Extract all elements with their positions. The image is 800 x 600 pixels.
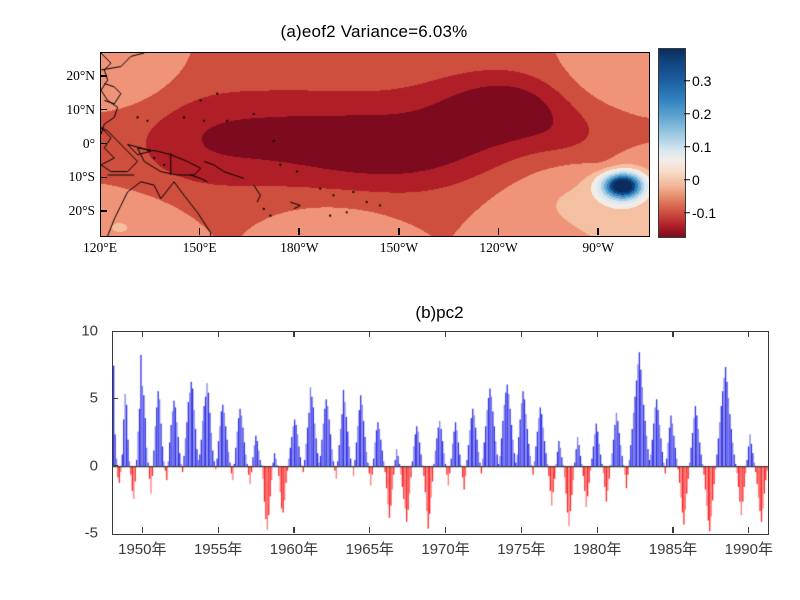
pc-bar-canvas [113,332,768,534]
pc-xtick-label: 1975年 [497,538,545,559]
pc-ytick-label: -5 [85,525,98,542]
map-ytick-mark [100,143,107,145]
pc-xtick-mark [218,527,219,533]
pc-xtick-mark [293,331,294,337]
pc-y-axis-labels: 1050-5 [40,331,106,533]
colorbar-tick-label: 0.1 [692,139,711,155]
pc-xtick-label: 1960年 [270,538,318,559]
eof-map-plot-area [100,52,650,237]
map-xtick-label: 180°W [280,240,318,256]
pc-timeseries-panel: (b)pc2 1050-5 1950年1955年1960年1965年1970年1… [0,280,800,600]
map-x-axis-labels: 120°E150°E180°W150°W120°W90°W [100,240,648,262]
figure-root: (a)eof2 Variance=6.03% 20°N10°N0°10°S20°… [0,0,800,600]
pc-xtick-mark [445,331,446,337]
map-xtick-label: 120°E [83,240,117,256]
map-y-axis-labels: 20°N10°N0°10°S20°S [0,52,95,235]
map-xtick-label: 150°E [183,240,217,256]
pc-xtick-label: 1970年 [421,538,469,559]
pc-xtick-label: 1965年 [346,538,394,559]
colorbar-tick-mark [684,80,690,82]
map-xtick-mark [498,228,500,235]
pc-xtick-mark [445,527,446,533]
pc-ytick-mark [112,398,118,399]
pc-xtick-label: 1980年 [573,538,621,559]
colorbar-tick-mark [684,113,690,115]
pc-xtick-mark [597,331,598,337]
pc-xtick-label: 1950年 [118,538,166,559]
map-xtick-label: 90°W [582,240,614,256]
eof-contour-canvas [101,53,649,236]
pc-panel-title: (b)pc2 [112,303,767,323]
pc-xtick-mark [142,527,143,533]
map-ytick-label: 10°N [66,102,95,118]
pc-xtick-label: 1990年 [725,538,773,559]
pc-xtick-label: 1955年 [194,538,242,559]
pc-x-axis-labels: 1950年1955年1960年1965年1970年1975年1980年1985年… [112,538,767,562]
colorbar-tick-mark [684,146,690,148]
colorbar-tick-label: -0.1 [692,205,716,221]
pc-xtick-mark [218,331,219,337]
pc-xtick-mark [293,527,294,533]
pc-xtick-mark [369,331,370,337]
map-ytick-mark [100,109,107,111]
pc-ytick-label: 0 [90,457,98,474]
pc-xtick-mark [672,527,673,533]
map-ytick-mark [100,177,107,179]
pc-xtick-mark [672,331,673,337]
colorbar-tick-label: 0.3 [692,73,711,89]
pc-plot-area [112,331,769,535]
colorbar-tick-mark [684,179,690,181]
colorbar [658,48,686,238]
map-xtick-mark [199,228,201,235]
map-xtick-mark [398,228,400,235]
map-ytick-label: 0° [83,136,95,152]
pc-xtick-mark [521,331,522,337]
pc-ytick-mark [112,465,118,466]
map-ytick-mark [100,75,107,77]
map-xtick-mark [298,228,300,235]
map-ytick-label: 10°S [69,169,95,185]
pc-xtick-mark [748,527,749,533]
map-ytick-label: 20°S [69,203,95,219]
map-ytick-mark [100,210,107,212]
map-xtick-mark [597,228,599,235]
colorbar-tick-label: 0.2 [692,106,711,122]
map-xtick-label: 120°W [479,240,517,256]
pc-xtick-mark [142,331,143,337]
colorbar-tick-label: 0 [692,172,700,188]
map-panel-title: (a)eof2 Variance=6.03% [100,22,648,42]
pc-xtick-mark [521,527,522,533]
colorbar-tick-mark [684,212,690,214]
pc-ytick-label: 10 [81,323,98,340]
map-xtick-label: 150°W [380,240,418,256]
pc-xtick-mark [369,527,370,533]
pc-ytick-label: 5 [90,390,98,407]
pc-xtick-mark [597,527,598,533]
map-ytick-label: 20°N [66,68,95,84]
pc-xtick-label: 1985年 [649,538,697,559]
pc-xtick-mark [748,331,749,337]
eof-map-panel: (a)eof2 Variance=6.03% 20°N10°N0°10°S20°… [0,0,800,280]
